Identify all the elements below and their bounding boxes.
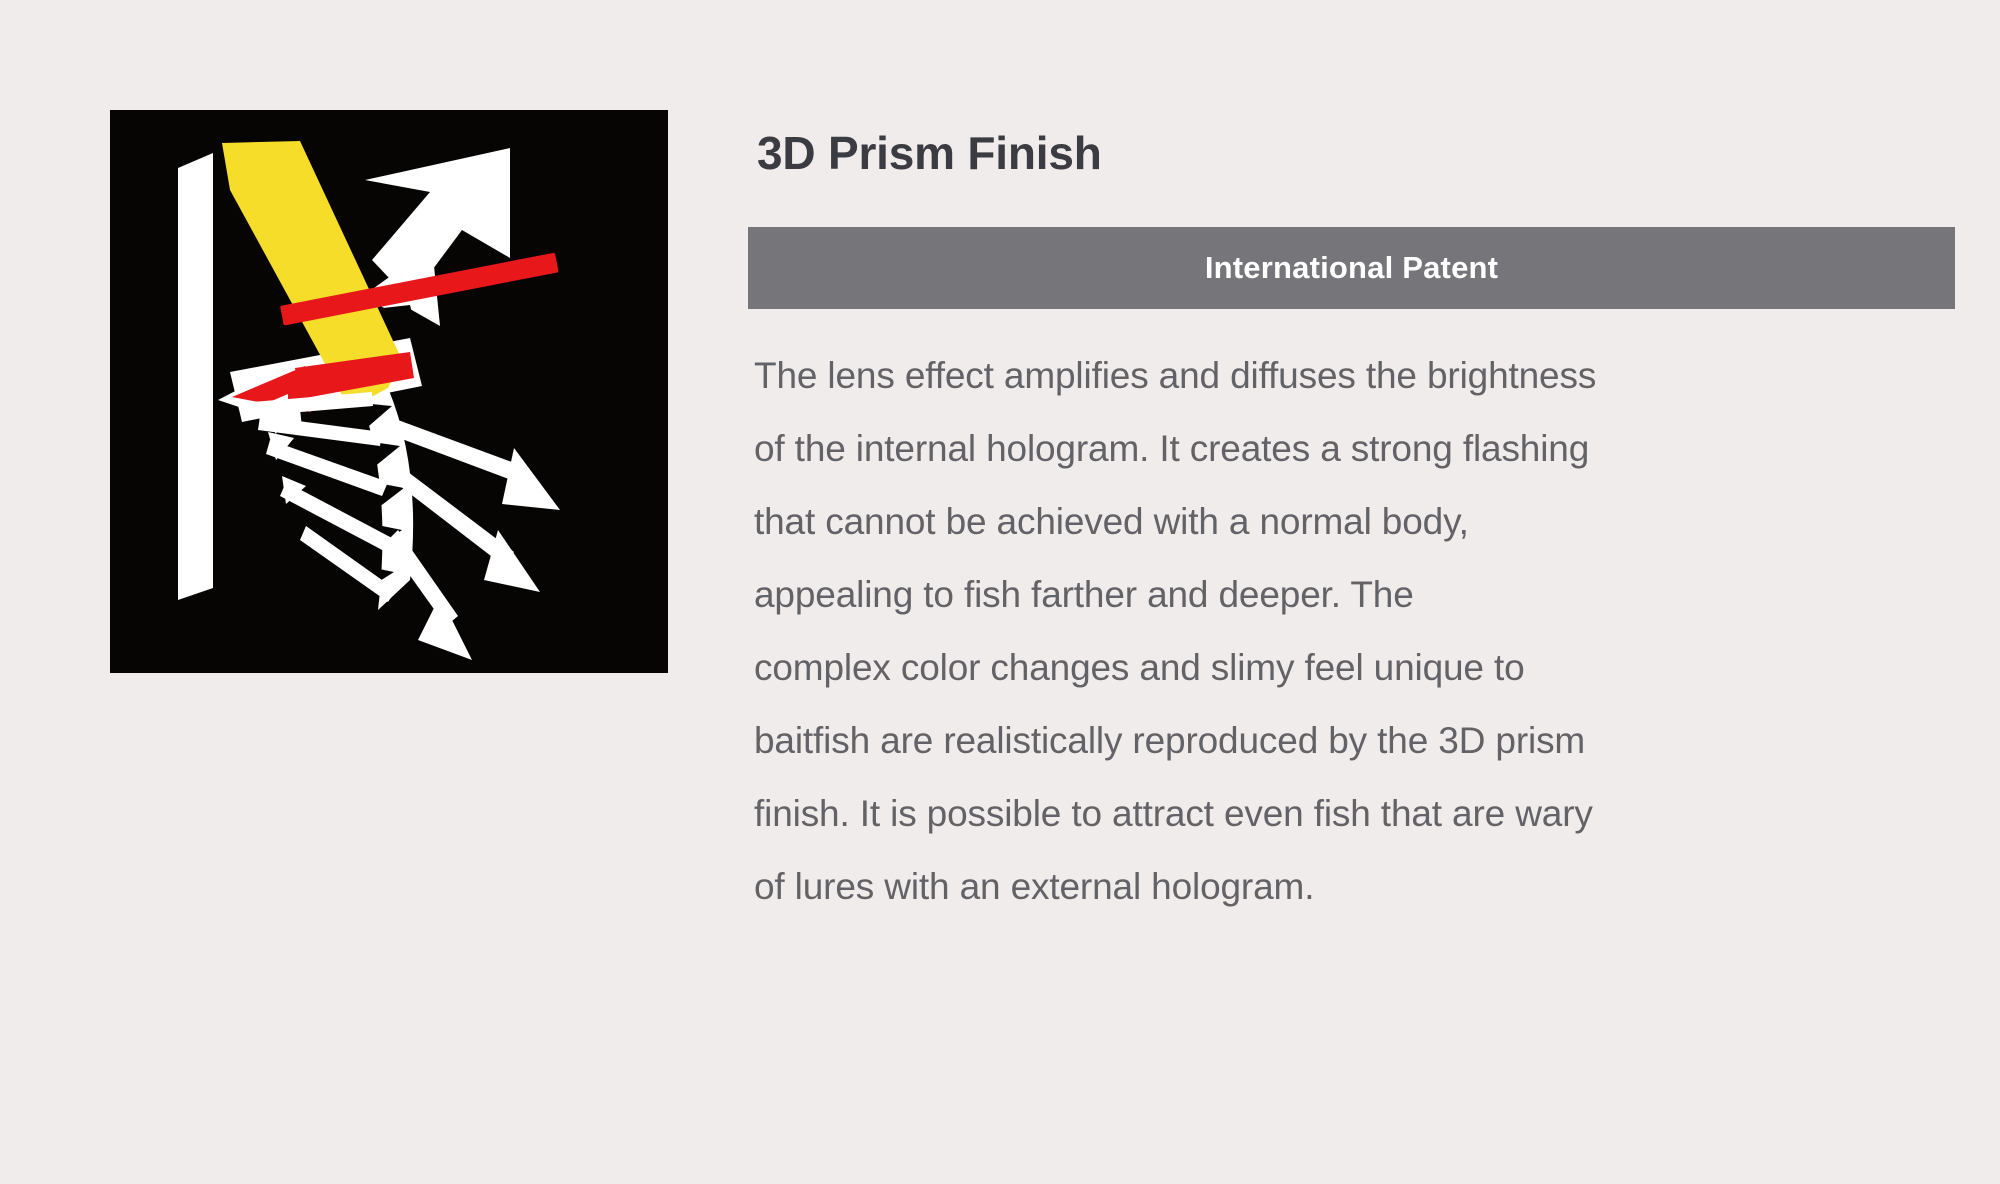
- feature-description: The lens effect amplifies and diffuses t…: [754, 339, 1960, 923]
- patent-banner-label: International Patent: [1205, 250, 1498, 286]
- international-patent-banner: International Patent: [748, 227, 1955, 309]
- description-line: complex color changes and slimy feel uni…: [754, 631, 1960, 704]
- description-line: finish. It is possible to attract even f…: [754, 777, 1960, 850]
- lure-body-wall-shape: [178, 153, 213, 600]
- prism-optics-figure: [110, 110, 668, 673]
- description-line: of the internal hologram. It creates a s…: [754, 412, 1960, 485]
- description-line: of lures with an external hologram.: [754, 850, 1960, 923]
- description-line: appealing to fish farther and deeper. Th…: [754, 558, 1960, 631]
- page-title: 3D Prism Finish: [757, 118, 1960, 179]
- product-feature-section: 3D Prism Finish International Patent The…: [0, 0, 2000, 1184]
- description-line: that cannot be achieved with a normal bo…: [754, 485, 1960, 558]
- description-line: The lens effect amplifies and diffuses t…: [754, 339, 1960, 412]
- feature-text-column: 3D Prism Finish International Patent The…: [748, 118, 1960, 923]
- description-line: baitfish are realistically reproduced by…: [754, 704, 1960, 777]
